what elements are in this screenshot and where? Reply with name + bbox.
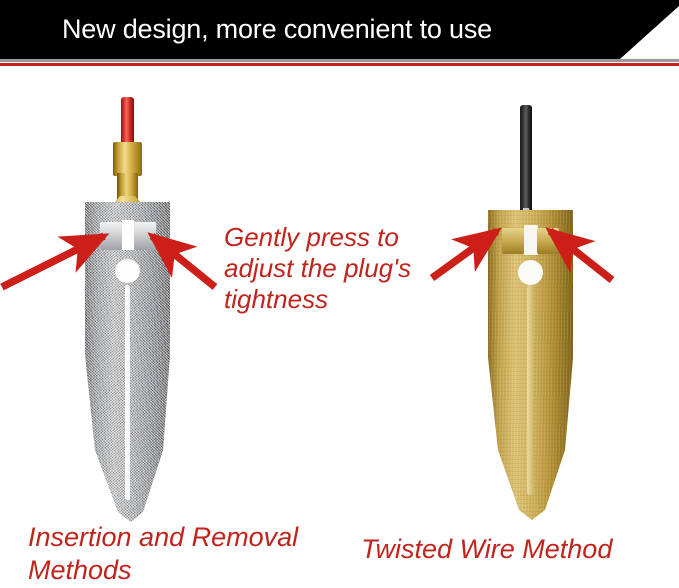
brass-clip-right (537, 228, 559, 254)
brass-mounting-hole (518, 260, 543, 285)
silver-clip-gap (122, 220, 134, 250)
callout-text: Gently press to adjust the plug's tightn… (224, 222, 469, 315)
brass-clip-left (502, 228, 524, 254)
brass-center-slot (528, 285, 534, 495)
silver-center-slot (125, 285, 130, 500)
header-white-gap (0, 66, 679, 70)
page-title: New design, more convenient to use (62, 12, 492, 46)
black-wire (520, 105, 532, 215)
brass-clip-gap (524, 225, 538, 255)
red-wire (121, 97, 134, 147)
silver-mounting-hole (115, 258, 140, 283)
caption-twisted-wire: Twisted Wire Method (361, 533, 671, 566)
infographic-page: New design, more convenient to use (0, 0, 679, 588)
brass-crimp-barrel (113, 142, 142, 176)
silver-clip-right (134, 222, 156, 250)
header-gray-divider (0, 59, 679, 62)
silver-clip-left (100, 222, 122, 250)
caption-insertion-removal: Insertion and Removal Methods (28, 521, 328, 587)
